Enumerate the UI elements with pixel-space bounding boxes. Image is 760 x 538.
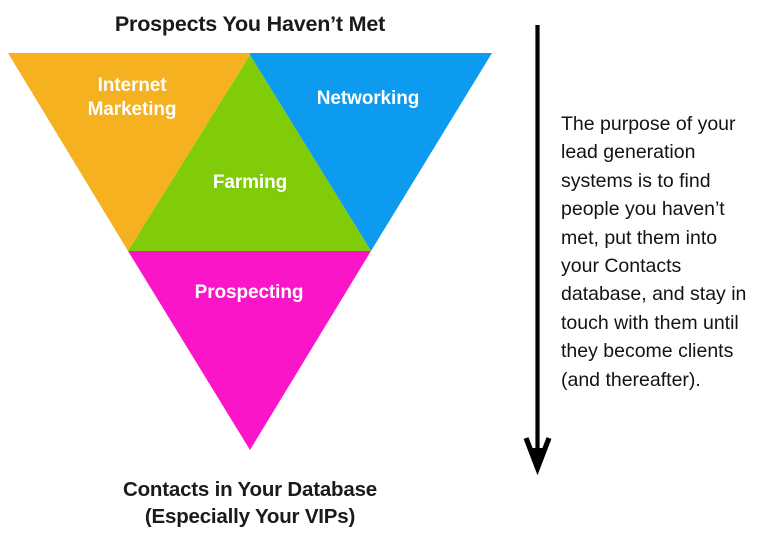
- inverted-triangle-funnel: [0, 0, 510, 470]
- bottom-caption: Contacts in Your Database (Especially Yo…: [0, 476, 500, 530]
- segment-prospecting[interactable]: [128, 251, 371, 450]
- diagram-canvas: Prospects You Haven’t Met Internet Marke…: [0, 0, 760, 538]
- bottom-caption-line-1: Contacts in Your Database: [0, 476, 500, 503]
- bottom-caption-line-2: (Especially Your VIPs): [0, 503, 500, 530]
- side-paragraph: The purpose of your lead generation syst…: [561, 110, 753, 394]
- down-arrow-icon: [508, 10, 568, 485]
